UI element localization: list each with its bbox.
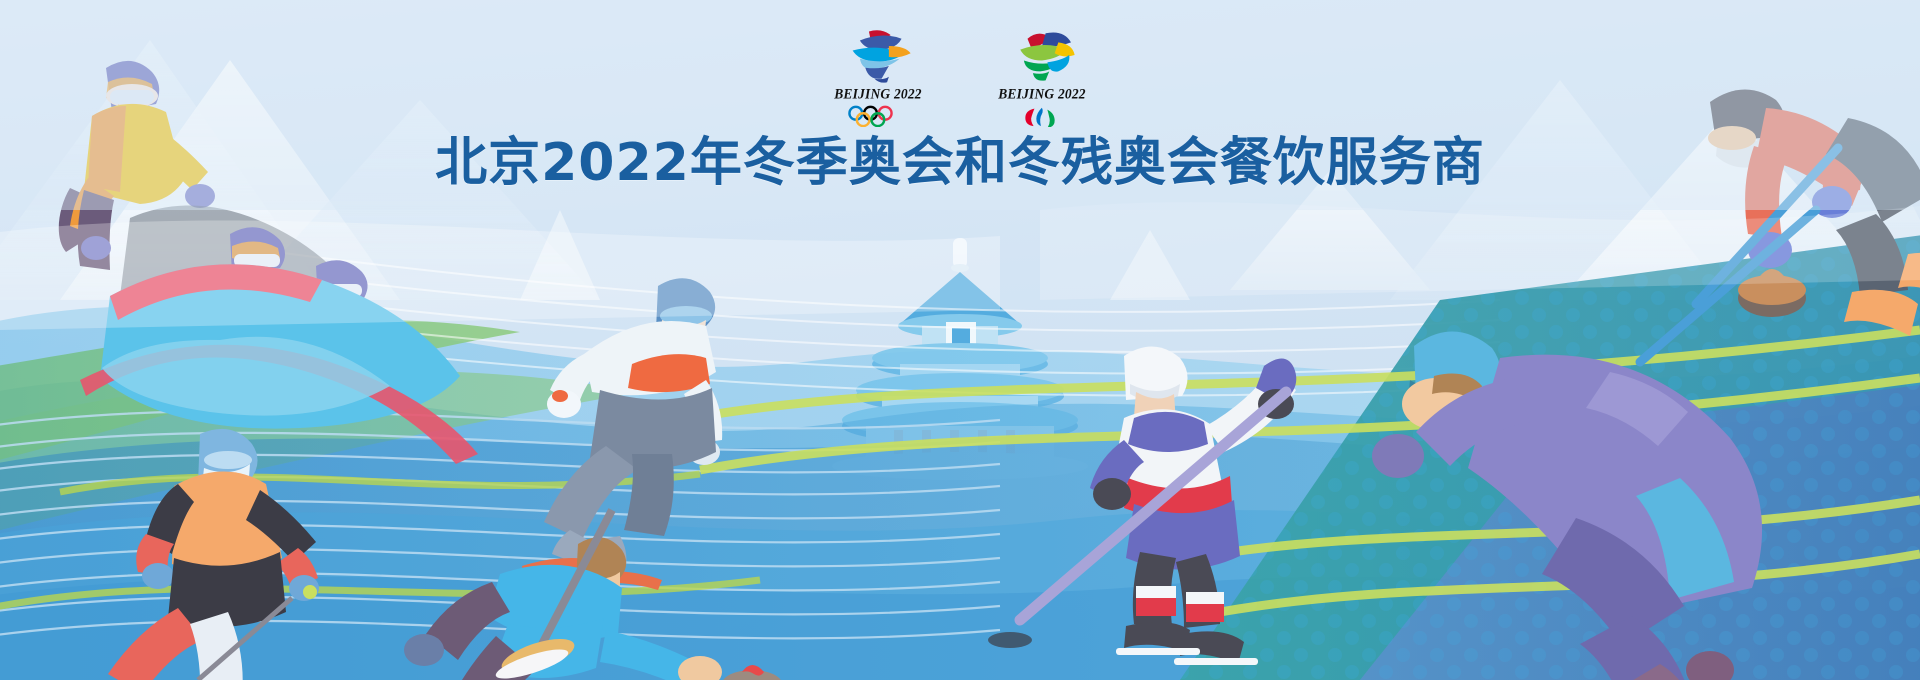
olympic-emblem: BEIJING 2022 (819, 26, 937, 127)
paralympic-emblem-mark (996, 26, 1088, 84)
page-title: 北京2022年冬季奥会和冬残奥会餐饮服务商 (0, 120, 1920, 195)
olympic-emblem-mark (832, 26, 924, 84)
olympic-wordmark: BEIJING 2022 (834, 85, 922, 103)
paralympic-emblem: BEIJING 2022 (983, 26, 1101, 127)
beijing-2022-banner: BEIJING 2022 BEIJIN (0, 0, 1920, 680)
emblem-row: BEIJING 2022 BEIJIN (0, 26, 1920, 127)
paralympic-wordmark: BEIJING 2022 (998, 85, 1086, 103)
